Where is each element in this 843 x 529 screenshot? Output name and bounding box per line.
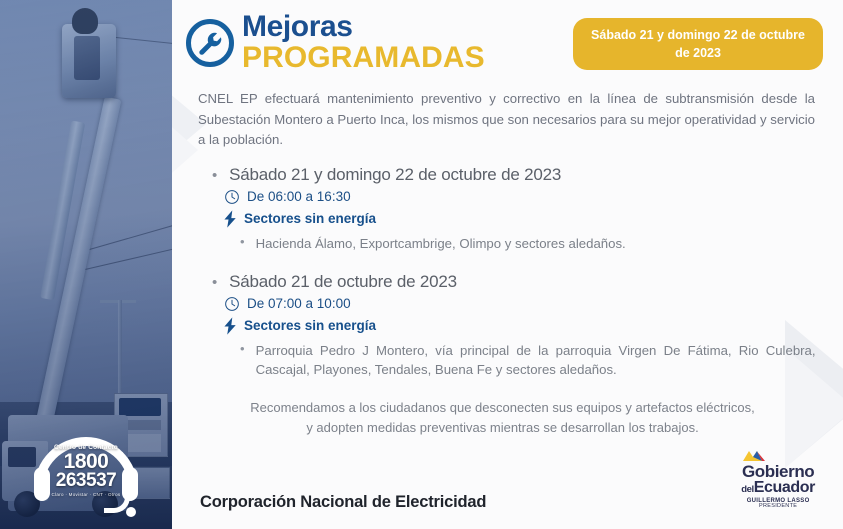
sectors-label-row: Sectores sin energía (222, 317, 823, 335)
outage-time-1: De 06:00 a 16:30 (247, 189, 351, 204)
contact-number-bottom: 263537 (46, 472, 126, 490)
sector-list-item: • Hacienda Álamo, Exportcambrige, Olimpo… (240, 234, 823, 254)
headset-mic-tip (126, 507, 136, 517)
outage-date-row: • Sábado 21 y domingo 22 de octubre de 2… (212, 165, 823, 185)
gov-ecuador: Ecuador (754, 479, 815, 496)
outage-block-2: • Sábado 21 de octubre de 2023 De 07:00 … (212, 272, 823, 381)
clock-icon (224, 296, 240, 312)
outage-time-row: De 07:00 a 10:00 (224, 296, 823, 312)
bullet-dot: • (240, 342, 245, 382)
recommendation-text: Recomendamos a los ciudadanos que descon… (200, 398, 805, 437)
brand-text: Mejoras PROGRAMADAS (242, 12, 485, 73)
sectors-label-row: Sectores sin energía (222, 210, 823, 228)
gov-del: del (741, 484, 754, 495)
clock-icon (224, 189, 240, 205)
outage-date-1: Sábado 21 y domingo 22 de octubre de 202… (229, 165, 561, 185)
recommendation-line-2: y adopten medidas preventivas mientras s… (200, 418, 805, 438)
content-panel: Mejoras PROGRAMADAS Sábado 21 y domingo … (172, 0, 843, 529)
lightning-bolt-icon (222, 317, 238, 335)
date-badge: Sábado 21 y domingo 22 de octubre de 202… (573, 18, 823, 70)
gov-line-1: Gobierno (741, 463, 815, 480)
wrench-circle-icon (186, 19, 234, 67)
brand-line-1: Mejoras (242, 12, 485, 42)
lightning-bolt-icon (222, 210, 238, 228)
corporation-name: Corporación Nacional de Electricidad (200, 493, 486, 512)
gobierno-ecuador-logo: Gobierno delEcuador GUILLERMO LASSO PRES… (741, 451, 815, 512)
contact-badge-text: Centro de Contacto 1800 263537 Claro · M… (46, 445, 126, 497)
wrench-icon (195, 28, 225, 58)
footer-row: Corporación Nacional de Electricidad Gob… (200, 451, 823, 512)
sector-list-item: • Parroquia Pedro J Montero, vía princip… (240, 341, 823, 381)
contact-number-top: 1800 (46, 452, 126, 472)
sector-text-1-0: Hacienda Álamo, Exportcambrige, Olimpo y… (256, 234, 626, 254)
gov-line-2: delEcuador (741, 480, 815, 496)
sectors-label-1: Sectores sin energía (244, 211, 376, 226)
recommendation-line-1: Recomendamos a los ciudadanos que descon… (200, 398, 805, 418)
outage-time-2: De 07:00 a 10:00 (247, 296, 351, 311)
brand-logo: Mejoras PROGRAMADAS (186, 12, 485, 73)
outage-time-row: De 06:00 a 16:30 (224, 189, 823, 205)
bullet-dot: • (212, 275, 217, 290)
outage-date-2: Sábado 21 de octubre de 2023 (229, 272, 457, 292)
intro-paragraph: CNEL EP efectuará mantenimiento preventi… (198, 89, 815, 151)
outage-date-row: • Sábado 21 de octubre de 2023 (212, 272, 823, 292)
sectors-label-2: Sectores sin energía (244, 318, 376, 333)
bullet-dot: • (212, 168, 217, 183)
bullet-dot: • (240, 235, 245, 255)
outage-block-1: • Sábado 21 y domingo 22 de octubre de 2… (212, 165, 823, 254)
photo-panel: Centro de Contacto 1800 263537 Claro · M… (0, 0, 172, 529)
sector-text-2-0: Parroquia Pedro J Montero, vía principal… (256, 341, 816, 381)
header-row: Mejoras PROGRAMADAS Sábado 21 y domingo … (186, 0, 823, 73)
ecuador-flag-icon (743, 451, 767, 462)
contact-carriers-label: Claro · Movistar · CNT · Otros (46, 492, 126, 497)
brand-line-2: PROGRAMADAS (242, 43, 485, 73)
contact-badge: Centro de Contacto 1800 263537 Claro · M… (34, 433, 138, 517)
poster: Centro de Contacto 1800 263537 Claro · M… (0, 0, 843, 529)
gov-president-role: PRESIDENTE (741, 504, 815, 510)
